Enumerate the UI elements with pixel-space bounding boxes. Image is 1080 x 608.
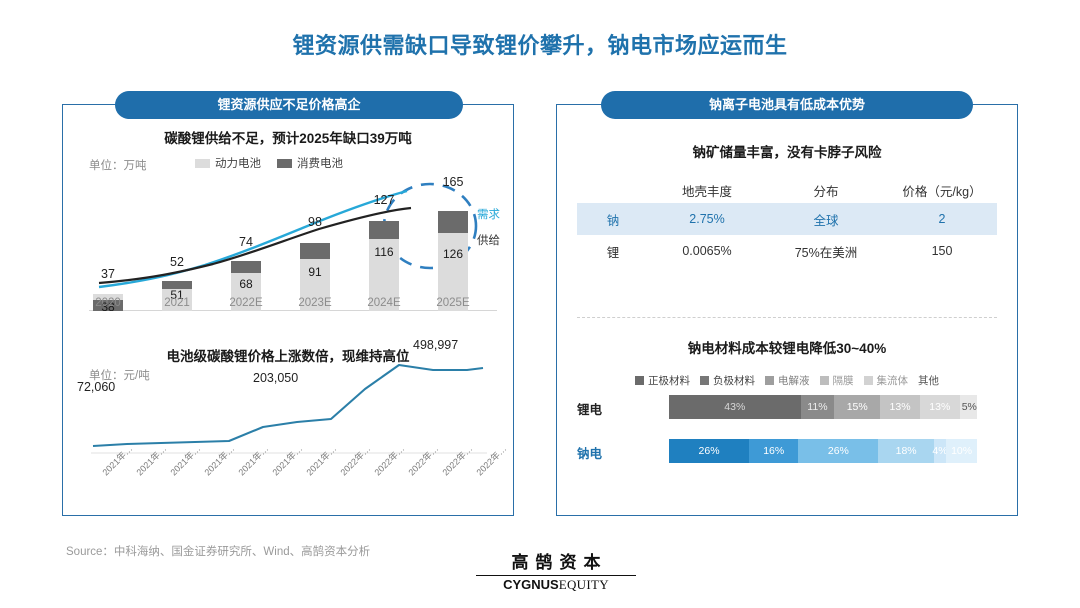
bar-xlabel-2023e: 2023E xyxy=(284,297,346,309)
bar-column-2020: 37 38 2020 xyxy=(93,285,123,311)
stack-seg-lithium-cathode: 43% xyxy=(669,395,801,419)
bar-value-2022e: 68 xyxy=(220,277,272,291)
legend-label-power: 动力电池 xyxy=(215,155,261,171)
legend-swatch-electrolyte xyxy=(765,376,774,385)
table-cell-element: 钠 xyxy=(577,210,649,229)
bar-column-2021: 52 51 2021 xyxy=(162,273,192,311)
bar-value-2024e: 116 xyxy=(358,245,410,259)
legend-item-consumer: 消费电池 xyxy=(277,155,343,171)
supply-demand-bar-chart: 37 38 2020 52 51 2021 74 68 2022E xyxy=(77,183,501,333)
table-cell-price: 150 xyxy=(887,244,997,258)
bar-xlabel-2025e: 2025E xyxy=(422,297,484,309)
slide: 锂资源供需缺口导致锂价攀升，钠电市场应运而生 锂资源供应不足价格高企 碳酸锂供给… xyxy=(0,0,1080,608)
bar-xlabel-2022e: 2022E xyxy=(215,297,277,309)
stack-seg-lithium-other: 5% xyxy=(960,395,977,419)
bar-seg-consumer-2022e xyxy=(231,261,261,273)
bar-xlabel-2021: 2021 xyxy=(146,297,208,309)
bar-seg-consumer-2024e xyxy=(369,221,399,239)
stack-seg-sodium-other: 10% xyxy=(946,439,977,463)
legend-label-anode: 负极材料 xyxy=(713,373,755,388)
bar-chart-title: 碳酸锂供给不足，预计2025年缺口39万吨 xyxy=(63,127,513,147)
legend-label-collector: 集流体 xyxy=(877,373,909,388)
stack-row-label-lithium: 锂电 xyxy=(577,399,647,418)
stack-seg-sodium-separator: 18% xyxy=(878,439,933,463)
stacked-chart-title: 钠电材料成本较锂电降低30~40% xyxy=(577,337,997,357)
table-cell-price: 2 xyxy=(887,212,997,226)
table-header-3: 价格（元/kg） xyxy=(887,181,997,200)
element-comparison-table: 地壳丰度 分布 价格（元/kg） 钠 2.75% 全球 2 锂 0.0065% … xyxy=(577,177,997,267)
bar-column-2025e: 165 126 2025E xyxy=(438,193,468,311)
annotation-demand: 需求 xyxy=(477,206,500,222)
bar-total-2020: 37 xyxy=(82,267,134,281)
bar-seg-consumer-2023e xyxy=(300,243,330,259)
legend-item-electrolyte: 电解液 xyxy=(765,373,810,388)
legend-label-electrolyte: 电解液 xyxy=(778,373,810,388)
legend-item-separator: 隔膜 xyxy=(820,373,854,388)
right-panel-header: 钠离子电池具有低成本优势 xyxy=(601,91,973,119)
legend-item-cathode: 正极材料 xyxy=(635,373,690,388)
table-cell-element: 锂 xyxy=(577,242,649,261)
right-panel: 钠离子电池具有低成本优势 钠矿储量丰富，没有卡脖子风险 地壳丰度 分布 价格（元… xyxy=(556,104,1018,516)
legend-swatch-collector xyxy=(864,376,873,385)
table-header-2: 分布 xyxy=(765,181,887,200)
table-row: 钠 2.75% 全球 2 xyxy=(577,203,997,235)
lithium-price-line-chart: 72,060 203,050 498,997 2021年… 2021年… 202… xyxy=(77,353,501,503)
table-cell-distribution: 全球 xyxy=(765,210,887,229)
left-panel-header: 锂资源供应不足价格高企 xyxy=(115,91,463,119)
legend-item-power: 动力电池 xyxy=(195,155,261,171)
bar-total-2022e: 74 xyxy=(220,235,272,249)
stacked-chart-legend: 正极材料 负极材料 电解液 隔膜 集流体 xyxy=(635,373,939,388)
stack-seg-lithium-collector: 13% xyxy=(920,395,960,419)
bar-xlabel-2024e: 2024E xyxy=(353,297,415,309)
left-panel: 锂资源供应不足价格高企 碳酸锂供给不足，预计2025年缺口39万吨 单位：万吨 … xyxy=(62,104,514,516)
table-header-row: 地壳丰度 分布 价格（元/kg） xyxy=(577,177,997,203)
stack-seg-lithium-anode: 11% xyxy=(801,395,835,419)
legend-swatch-cathode xyxy=(635,376,644,385)
table-header-1: 地壳丰度 xyxy=(649,181,765,200)
line-value-end: 498,997 xyxy=(413,338,458,352)
bar-value-2023e: 91 xyxy=(289,265,341,279)
stack-bar-lithium: 43% 11% 15% 13% 13% 5% xyxy=(669,395,977,419)
legend-swatch-anode xyxy=(700,376,709,385)
legend-label-cathode: 正极材料 xyxy=(648,373,690,388)
legend-item-collector: 集流体 xyxy=(864,373,909,388)
logo-divider xyxy=(476,575,636,576)
stack-seg-sodium-electrolyte: 26% xyxy=(798,439,878,463)
section-divider xyxy=(577,317,997,318)
legend-label-separator: 隔膜 xyxy=(833,373,854,388)
bar-total-2024e: 127 xyxy=(358,193,410,207)
company-logo: 高鹄资本 CYGNUSEQUITY xyxy=(476,548,636,593)
logo-chinese: 高鹄资本 xyxy=(476,548,636,573)
material-cost-section: 钠电材料成本较锂电降低30~40% 正极材料 负极材料 电解液 隔膜 xyxy=(577,337,997,487)
logo-english: CYGNUSEQUITY xyxy=(476,577,636,593)
bar-xlabel-2020: 2020 xyxy=(77,297,139,309)
stack-seg-sodium-cathode: 26% xyxy=(669,439,749,463)
legend-label-other: 其他 xyxy=(918,373,939,388)
bar-total-2021: 52 xyxy=(151,255,203,269)
stack-seg-sodium-anode: 16% xyxy=(749,439,798,463)
stack-seg-lithium-separator: 13% xyxy=(880,395,920,419)
annotation-supply: 供给 xyxy=(477,232,500,248)
legend-item-other: 其他 xyxy=(918,373,939,388)
legend-item-anode: 负极材料 xyxy=(700,373,755,388)
legend-label-consumer: 消费电池 xyxy=(297,155,343,171)
bar-seg-consumer-2025e xyxy=(438,211,468,233)
stack-seg-lithium-electrolyte: 15% xyxy=(834,395,880,419)
table-cell-abundance: 0.0065% xyxy=(649,244,765,258)
line-chart-xaxis: 2021年… 2021年… 2021年… 2021年… 2021年… 2021年… xyxy=(93,469,493,515)
stack-bar-sodium: 26% 16% 26% 18% 4% 10% xyxy=(669,439,977,463)
stack-row-label-sodium: 钠电 xyxy=(577,443,647,462)
bar-column-2022e: 74 68 2022E xyxy=(231,253,261,311)
legend-swatch-consumer xyxy=(277,159,292,168)
bar-chart-unit: 单位：万吨 xyxy=(89,157,147,173)
logo-english-bold: CYGNUS xyxy=(503,577,559,592)
bar-total-2025e: 165 xyxy=(427,175,479,189)
legend-swatch-power xyxy=(195,159,210,168)
sodium-table-title: 钠矿储量丰富，没有卡脖子风险 xyxy=(557,141,1017,161)
logo-english-light: EQUITY xyxy=(559,577,609,592)
stack-seg-sodium-collector: 4% xyxy=(934,439,946,463)
table-cell-distribution: 75%在美洲 xyxy=(765,242,887,261)
table-cell-abundance: 2.75% xyxy=(649,212,765,226)
source-note: Source：中科海纳、国金证券研究所、Wind、高鹄资本分析 xyxy=(66,543,370,559)
page-title: 锂资源供需缺口导致锂价攀升，钠电市场应运而生 xyxy=(0,28,1080,60)
bar-chart-legend: 动力电池 消费电池 xyxy=(195,155,343,171)
legend-swatch-separator xyxy=(820,376,829,385)
bar-column-2023e: 98 91 2023E xyxy=(300,233,330,311)
bar-value-2025e: 126 xyxy=(427,247,479,261)
bar-column-2024e: 127 116 2024E xyxy=(369,207,399,311)
table-row: 锂 0.0065% 75%在美洲 150 xyxy=(577,235,997,267)
price-line xyxy=(93,365,483,446)
bar-total-2023e: 98 xyxy=(289,215,341,229)
